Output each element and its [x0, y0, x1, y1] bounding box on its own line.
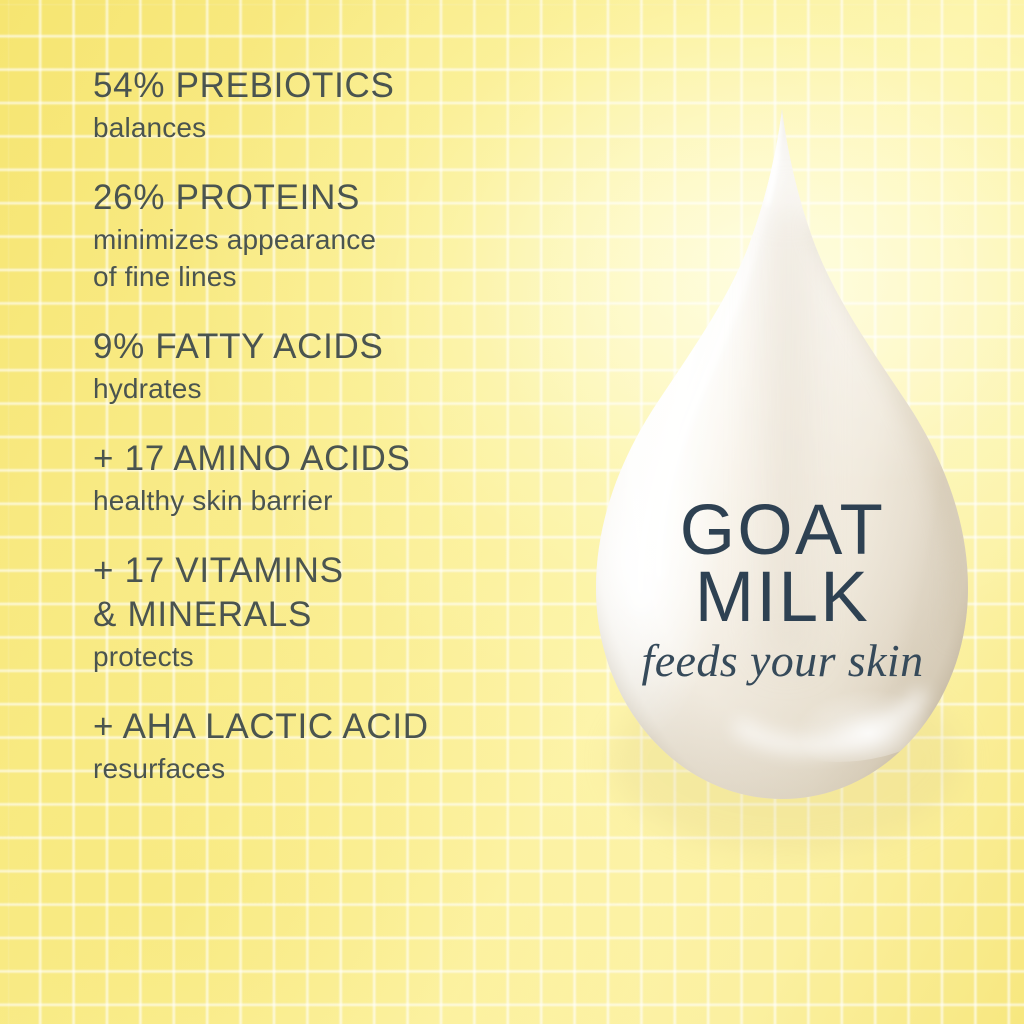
milk-droplet-graphic: GOAT MILK feeds your skin — [575, 100, 990, 830]
ingredient-list: 54% PREBIOTICS balances 26% PROTEINS min… — [93, 64, 563, 787]
ingredient-item-fatty-acids: 9% FATTY ACIDS hydrates — [93, 325, 563, 407]
milk-droplet-icon — [575, 100, 990, 830]
ingredient-headline: 9% FATTY ACIDS — [93, 325, 563, 369]
ingredient-headline: + AHA LACTIC ACID — [93, 705, 563, 749]
ingredient-benefit: resurfaces — [93, 750, 563, 787]
ingredient-item-amino-acids: + 17 AMINO ACIDS healthy skin barrier — [93, 437, 563, 519]
ingredient-headline: + 17 VITAMINS & MINERALS — [93, 549, 563, 637]
ingredient-item-vitamins-minerals: + 17 VITAMINS & MINERALS protects — [93, 549, 563, 675]
ingredient-infographic: 54% PREBIOTICS balances 26% PROTEINS min… — [0, 0, 1024, 1024]
ingredient-item-proteins: 26% PROTEINS minimizes appearance of fin… — [93, 176, 563, 295]
ingredient-headline: 26% PROTEINS — [93, 176, 563, 220]
ingredient-benefit: hydrates — [93, 370, 563, 407]
ingredient-benefit: balances — [93, 109, 563, 146]
ingredient-item-aha-lactic-acid: + AHA LACTIC ACID resurfaces — [93, 705, 563, 787]
ingredient-item-prebiotics: 54% PREBIOTICS balances — [93, 64, 563, 146]
ingredient-benefit: minimizes appearance of fine lines — [93, 221, 563, 295]
ingredient-benefit: protects — [93, 638, 563, 675]
ingredient-benefit: healthy skin barrier — [93, 482, 563, 519]
ingredient-headline: 54% PREBIOTICS — [93, 64, 563, 108]
ingredient-headline: + 17 AMINO ACIDS — [93, 437, 563, 481]
